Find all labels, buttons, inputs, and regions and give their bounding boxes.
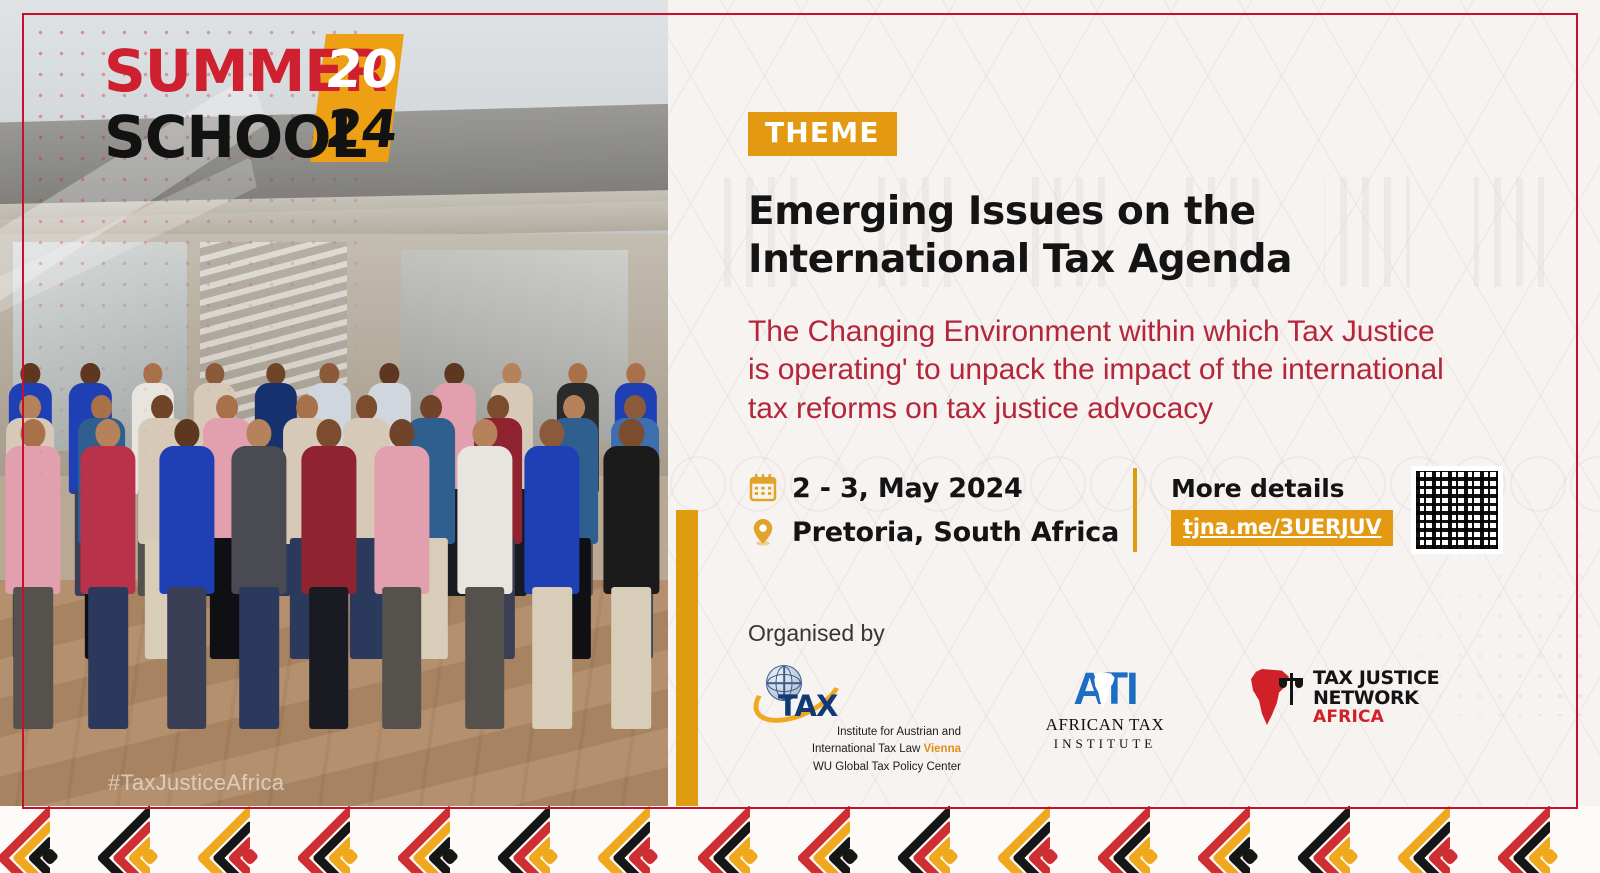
theme-title: Emerging Issues on the International Tax… <box>748 188 1448 285</box>
person <box>455 419 515 741</box>
person-head <box>420 395 442 420</box>
person-torso <box>457 446 512 594</box>
person <box>522 419 582 741</box>
wu-caption-line-1: Institute for Austrian and <box>748 724 961 741</box>
event-date-text: 2 - 3, May 2024 <box>792 473 1023 504</box>
more-details-text: More details tjna.me/3UERJUV <box>1171 474 1393 546</box>
qr-code-icon[interactable] <box>1411 466 1503 554</box>
pattern-unit <box>1400 806 1500 873</box>
person-legs <box>13 587 53 729</box>
event-poster: #TaxJusticeAfrica SUMMER SCHOOL 20 24 TH… <box>0 0 1600 873</box>
person-head <box>389 419 414 448</box>
ati-caption-line-1: AFRICAN TAX <box>1025 715 1185 735</box>
pattern-unit <box>300 806 400 873</box>
person-legs <box>532 587 572 729</box>
person-legs <box>382 587 422 729</box>
more-details-url[interactable]: tjna.me/3UERJUV <box>1171 510 1393 546</box>
theme-subtitle: The Changing Environment within which Ta… <box>748 313 1448 428</box>
tjna-line-2: NETWORK <box>1313 688 1439 708</box>
person-head <box>472 419 497 448</box>
ati-caption-line-2: INSTITUTE <box>1025 736 1185 752</box>
logo-year-top: 20 <box>323 44 400 96</box>
event-date-row: 2 - 3, May 2024 <box>748 466 1133 510</box>
pattern-unit <box>100 806 200 873</box>
ati-wordmark-wrap: ATI <box>1025 665 1185 713</box>
person-torso <box>374 446 429 594</box>
pattern-unit <box>800 806 900 873</box>
person-head <box>563 395 585 420</box>
pattern-unit <box>1100 806 1200 873</box>
pattern-unit <box>200 806 300 873</box>
pattern-unit <box>700 806 800 873</box>
person-head <box>619 419 644 448</box>
person-legs <box>465 587 505 729</box>
person-legs <box>88 587 128 729</box>
event-location-row: Pretoria, South Africa <box>748 510 1133 554</box>
tjna-mark <box>1247 667 1303 727</box>
person-legs <box>612 587 652 729</box>
wu-caption-line-3: WU Global Tax Policy Center <box>748 759 961 776</box>
person-head <box>487 395 509 420</box>
more-details-block: More details tjna.me/3UERJUV <box>1171 466 1503 554</box>
hashtag-watermark: #TaxJusticeAfrica <box>108 770 284 796</box>
african-pattern-border <box>0 806 1600 873</box>
person-legs <box>239 587 279 729</box>
pattern-unit <box>0 806 100 873</box>
wu-caption-line-2-a: International Tax Law <box>812 743 924 755</box>
pattern-unit <box>1200 806 1300 873</box>
organisers-section: Organised by TAX Institute for Austrian … <box>748 620 1508 776</box>
wu-vienna-caption: Institute for Austrian and International… <box>748 724 963 776</box>
wu-caption-line-2: International Tax Law Vienna <box>748 741 961 758</box>
content-inner: THEME Emerging Issues on the Internation… <box>668 0 1600 428</box>
details-divider <box>1133 468 1137 552</box>
location-pin-icon <box>748 517 778 547</box>
event-meta: 2 - 3, May 2024 Pretoria, South Africa <box>748 466 1133 554</box>
pattern-unit <box>1300 806 1400 873</box>
person-head <box>626 363 645 385</box>
wu-vienna-mark: TAX <box>748 665 963 721</box>
person-head <box>502 363 521 385</box>
calendar-icon <box>748 473 778 503</box>
person-torso <box>604 446 659 594</box>
organiser-logos: TAX Institute for Austrian and Internati… <box>748 661 1508 776</box>
person <box>601 419 661 741</box>
person-legs <box>167 587 207 729</box>
event-location-text: Pretoria, South Africa <box>792 517 1119 548</box>
theme-badge: THEME <box>748 112 897 156</box>
pattern-unit <box>1500 806 1600 873</box>
pattern-unit <box>500 806 600 873</box>
person-head <box>568 363 587 385</box>
wu-vienna-wordmark: TAX <box>778 689 837 723</box>
event-details: 2 - 3, May 2024 Pretoria, South Africa M… <box>748 460 1528 560</box>
event-photo: #TaxJusticeAfrica SUMMER SCHOOL 20 24 <box>0 0 668 806</box>
person-legs <box>309 587 349 729</box>
person-torso <box>524 446 579 594</box>
logo-tax-justice-network-africa: TAX JUSTICE NETWORK AFRICA <box>1247 661 1439 727</box>
logo-wu-vienna: TAX Institute for Austrian and Internati… <box>748 661 963 776</box>
organisers-label: Organised by <box>748 620 1508 647</box>
pattern-unit <box>400 806 500 873</box>
gold-vertical-accent-bar <box>676 510 698 806</box>
summer-school-logo: SUMMER SCHOOL 20 24 <box>104 42 387 166</box>
logo-year-bottom: 24 <box>323 104 400 156</box>
pattern-unit <box>900 806 1000 873</box>
logo-african-tax-institute: ATI AFRICAN TAX INSTITUTE <box>1025 661 1185 752</box>
person-head <box>539 419 564 448</box>
qr-code-pattern <box>1416 471 1498 549</box>
more-details-label: More details <box>1171 474 1393 503</box>
scales-of-justice-icon <box>1279 673 1303 707</box>
pattern-unit <box>1000 806 1100 873</box>
wu-caption-vienna: Vienna <box>924 743 962 755</box>
person-head <box>445 363 464 385</box>
person-head <box>380 363 399 385</box>
tjna-line-1: TAX JUSTICE <box>1313 668 1439 688</box>
pattern-unit <box>600 806 700 873</box>
person <box>372 419 432 741</box>
person-head <box>624 395 646 420</box>
tjna-line-3: AFRICA <box>1313 708 1439 726</box>
tjna-wordmark: TAX JUSTICE NETWORK AFRICA <box>1313 668 1439 726</box>
